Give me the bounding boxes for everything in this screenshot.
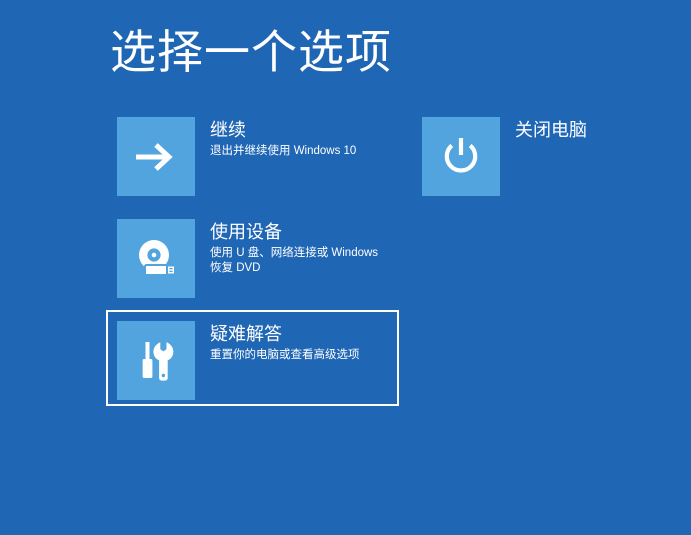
- troubleshoot-tile: [117, 321, 195, 400]
- option-troubleshoot-desc: 重置你的电脑或查看高级选项: [210, 348, 360, 363]
- screwdriver-wrench-icon: [133, 339, 179, 383]
- option-troubleshoot-title: 疑难解答: [210, 323, 360, 346]
- use-device-text: 使用设备 使用 U 盘、网络连接或 Windows 恢复 DVD: [195, 219, 388, 276]
- page-title: 选择一个选项: [110, 24, 392, 80]
- use-device-tile: [117, 219, 195, 298]
- option-use-device-title: 使用设备: [210, 221, 388, 244]
- option-turn-off-pc[interactable]: 关闭电脑: [411, 106, 691, 202]
- options-area: 继续 退出并继续使用 Windows 10: [0, 106, 691, 416]
- option-use-device-desc: 使用 U 盘、网络连接或 Windows 恢复 DVD: [210, 246, 388, 276]
- options-column-left: 继续 退出并继续使用 Windows 10: [106, 106, 406, 412]
- options-column-right: 关闭电脑: [411, 106, 681, 208]
- option-continue[interactable]: 继续 退出并继续使用 Windows 10: [106, 106, 399, 202]
- option-continue-title: 继续: [210, 119, 356, 142]
- troubleshoot-text: 疑难解答 重置你的电脑或查看高级选项: [195, 321, 360, 363]
- turn-off-tile: [422, 117, 500, 196]
- arrow-right-icon: [134, 140, 178, 174]
- continue-text: 继续 退出并继续使用 Windows 10: [195, 117, 356, 159]
- option-troubleshoot[interactable]: 疑难解答 重置你的电脑或查看高级选项: [106, 310, 399, 406]
- continue-tile: [117, 117, 195, 196]
- option-use-device[interactable]: 使用设备 使用 U 盘、网络连接或 Windows 恢复 DVD: [106, 208, 399, 304]
- option-continue-desc: 退出并继续使用 Windows 10: [210, 144, 356, 159]
- power-icon: [441, 136, 481, 178]
- turn-off-text: 关闭电脑: [500, 117, 587, 142]
- disc-usb-icon: [132, 237, 180, 281]
- option-turn-off-title: 关闭电脑: [515, 119, 587, 142]
- recovery-screen: 选择一个选项 继续 退出并继续使用 Windows 10: [0, 0, 691, 535]
